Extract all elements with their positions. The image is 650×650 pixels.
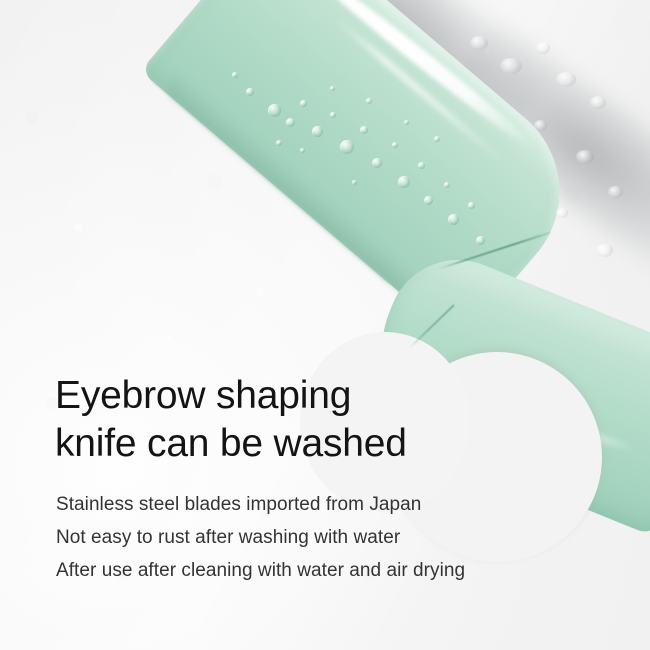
feature-item: After use after cleaning with water and … (56, 554, 615, 587)
product-marketing-image: Eyebrow shaping knife can be washed Stai… (0, 0, 650, 650)
feature-item: Stainless steel blades imported from Jap… (56, 488, 615, 521)
headline: Eyebrow shaping knife can be washed (55, 372, 615, 468)
feature-list: Stainless steel blades imported from Jap… (56, 488, 615, 587)
water-droplet-background (596, 244, 613, 257)
feature-item: Not easy to rust after washing with wate… (56, 521, 615, 554)
marketing-copy: Eyebrow shaping knife can be washed Stai… (55, 372, 615, 587)
